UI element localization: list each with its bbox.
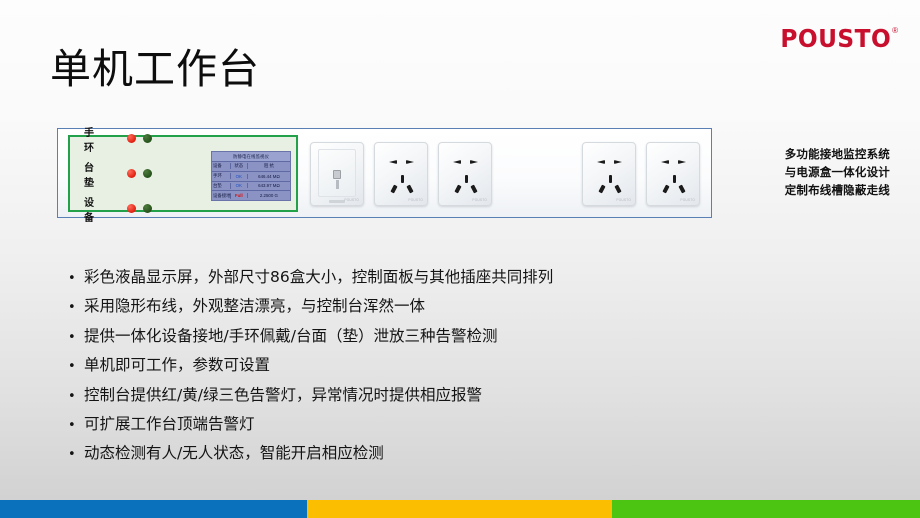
bullet-item-1: • 彩色液晶显示屏，外部尺寸86盒大小，控制面板与其他插座共同排列 — [68, 268, 768, 287]
bullet-marker-icon: • — [68, 418, 84, 434]
bullet-marker-icon: • — [68, 389, 84, 405]
lcd-header-device: 设备 — [212, 163, 231, 169]
indicator-row-equipment: 设 备 — [84, 194, 152, 224]
registered-trademark-icon: ® — [892, 27, 898, 35]
indicator-label-mat: 台 垫 — [84, 159, 120, 189]
faceplate-brand-5: POUSTO — [680, 198, 695, 202]
bullet-text-6: 可扩展工作台顶端告警灯 — [84, 415, 255, 434]
caption-line-3: 定制布线槽隐蔽走线 — [785, 182, 890, 200]
indicator-row-mat: 台 垫 — [84, 159, 152, 189]
page-title: 单机工作台 — [50, 46, 260, 93]
bullet-text-7: 动态检测有人/无人状态，智能开启相应检测 — [84, 444, 384, 463]
bullet-marker-icon: • — [68, 447, 84, 463]
lcd-header-value: 阻 抗 — [248, 163, 290, 169]
accent-segment-blue — [0, 500, 307, 518]
lcd-value-wriststrap: 646.44 MΩ — [248, 174, 290, 179]
faceplate-brand-2: POUSTO — [408, 198, 423, 202]
esd-controller-panel: 手 环 台 垫 设 备 防静电在线监视仪 设备 状态 阻 抗 — [68, 135, 298, 212]
led-alarm-icon-mat — [127, 169, 136, 178]
bullet-text-3: 提供一体化设备接地/手环佩戴/台面（垫）泄放三种告警检测 — [84, 327, 497, 346]
bullet-marker-icon: • — [68, 271, 84, 287]
lcd-status-mat: OK — [231, 183, 248, 188]
lcd-header-status: 状态 — [231, 163, 248, 169]
faceplate-brand-1: POUSTO — [344, 198, 359, 202]
bullet-text-1: 彩色液晶显示屏，外部尺寸86盒大小，控制面板与其他插座共同排列 — [84, 268, 553, 287]
bullet-item-6: • 可扩展工作台顶端告警灯 — [68, 415, 768, 434]
bottom-accent-bar — [0, 500, 920, 518]
lcd-status-equipment: Full — [231, 193, 248, 198]
lcd-row-mat: 台垫 OK 643.97 MΩ — [212, 182, 290, 192]
led-ok-icon-mat — [143, 169, 152, 178]
lcd-device-mat: 台垫 — [212, 183, 231, 189]
indicator-rows: 手 环 台 垫 设 备 — [84, 124, 152, 224]
led-alarm-icon-equipment — [127, 204, 136, 213]
bullet-text-5: 控制台提供红/黄/绿三色告警灯，异常情况时提供相应报警 — [84, 386, 482, 405]
network-jack-icon — [333, 170, 341, 179]
accent-segment-yellow — [307, 500, 612, 518]
faceplate-tab — [329, 200, 345, 203]
bullet-item-3: • 提供一体化设备接地/手环佩戴/台面（垫）泄放三种告警检测 — [68, 327, 768, 346]
lcd-row-wriststrap: 手环 OK 646.44 MΩ — [212, 172, 290, 182]
bullet-item-4: • 单机即可工作，参数可设置 — [68, 356, 768, 375]
data-jack-faceplate: POUSTO — [310, 142, 364, 206]
brand-logo: POUSTO ® — [772, 26, 898, 51]
bullet-marker-icon: • — [68, 330, 84, 346]
logo-wordmark: POUSTO — [780, 26, 891, 51]
power-socket-faceplate-2: POUSTO — [438, 142, 492, 206]
socket-holes-icon-3 — [583, 143, 635, 205]
bullet-marker-icon: • — [68, 359, 84, 375]
feature-bullet-list: • 彩色液晶显示屏，外部尺寸86盒大小，控制面板与其他插座共同排列 • 采用隐形… — [68, 268, 768, 474]
bullet-item-2: • 采用隐形布线，外观整洁漂亮，与控制台浑然一体 — [68, 297, 768, 316]
lcd-device-equipment: 设备接地 — [212, 193, 231, 199]
caption-line-2: 与电源盒一体化设计 — [785, 164, 890, 182]
indicator-label-wriststrap: 手 环 — [84, 124, 120, 154]
power-socket-faceplate-4: POUSTO — [646, 142, 700, 206]
lcd-device-wriststrap: 手环 — [212, 173, 231, 179]
indicator-row-wriststrap: 手 环 — [84, 124, 152, 154]
bullet-item-7: • 动态检测有人/无人状态，智能开启相应检测 — [68, 444, 768, 463]
lcd-title: 防静电在线监视仪 — [212, 152, 290, 162]
socket-holes-icon-4 — [647, 143, 699, 205]
power-socket-faceplate-1: POUSTO — [374, 142, 428, 206]
led-ok-icon-equipment — [143, 204, 152, 213]
socket-strip: POUSTO POUSTO POUSTO POUST — [310, 129, 707, 219]
indicator-label-equipment: 设 备 — [84, 194, 120, 224]
lcd-row-equipment: 设备接地 Full 2.2500 G — [212, 191, 290, 200]
accent-segment-green — [612, 500, 920, 518]
lcd-header-row: 设备 状态 阻 抗 — [212, 162, 290, 172]
power-socket-faceplate-3: POUSTO — [582, 142, 636, 206]
faceplate-brand-3: POUSTO — [472, 198, 487, 202]
bullet-marker-icon: • — [68, 300, 84, 316]
lcd-display: 防静电在线监视仪 设备 状态 阻 抗 手环 OK 646.44 MΩ 台垫 OK… — [211, 151, 291, 201]
caption-line-1: 多功能接地监控系统 — [785, 146, 890, 164]
lcd-status-wriststrap: OK — [231, 174, 248, 179]
led-ok-icon-wriststrap — [143, 134, 152, 143]
faceplate-brand-4: POUSTO — [616, 198, 631, 202]
feature-caption: 多功能接地监控系统 与电源盒一体化设计 定制布线槽隐蔽走线 — [785, 146, 890, 199]
device-photo-panel: 手 环 台 垫 设 备 防静电在线监视仪 设备 状态 阻 抗 — [57, 128, 712, 218]
faceplate-inner — [318, 149, 356, 197]
lcd-value-mat: 643.97 MΩ — [248, 183, 290, 188]
lcd-value-equipment: 2.2500 G — [248, 193, 290, 198]
led-alarm-icon-wriststrap — [127, 134, 136, 143]
socket-holes-icon-2 — [439, 143, 491, 205]
bullet-text-4: 单机即可工作，参数可设置 — [84, 356, 270, 375]
bullet-text-2: 采用隐形布线，外观整洁漂亮，与控制台浑然一体 — [84, 297, 425, 316]
bullet-item-5: • 控制台提供红/黄/绿三色告警灯，异常情况时提供相应报警 — [68, 386, 768, 405]
socket-holes-icon-1 — [375, 143, 427, 205]
